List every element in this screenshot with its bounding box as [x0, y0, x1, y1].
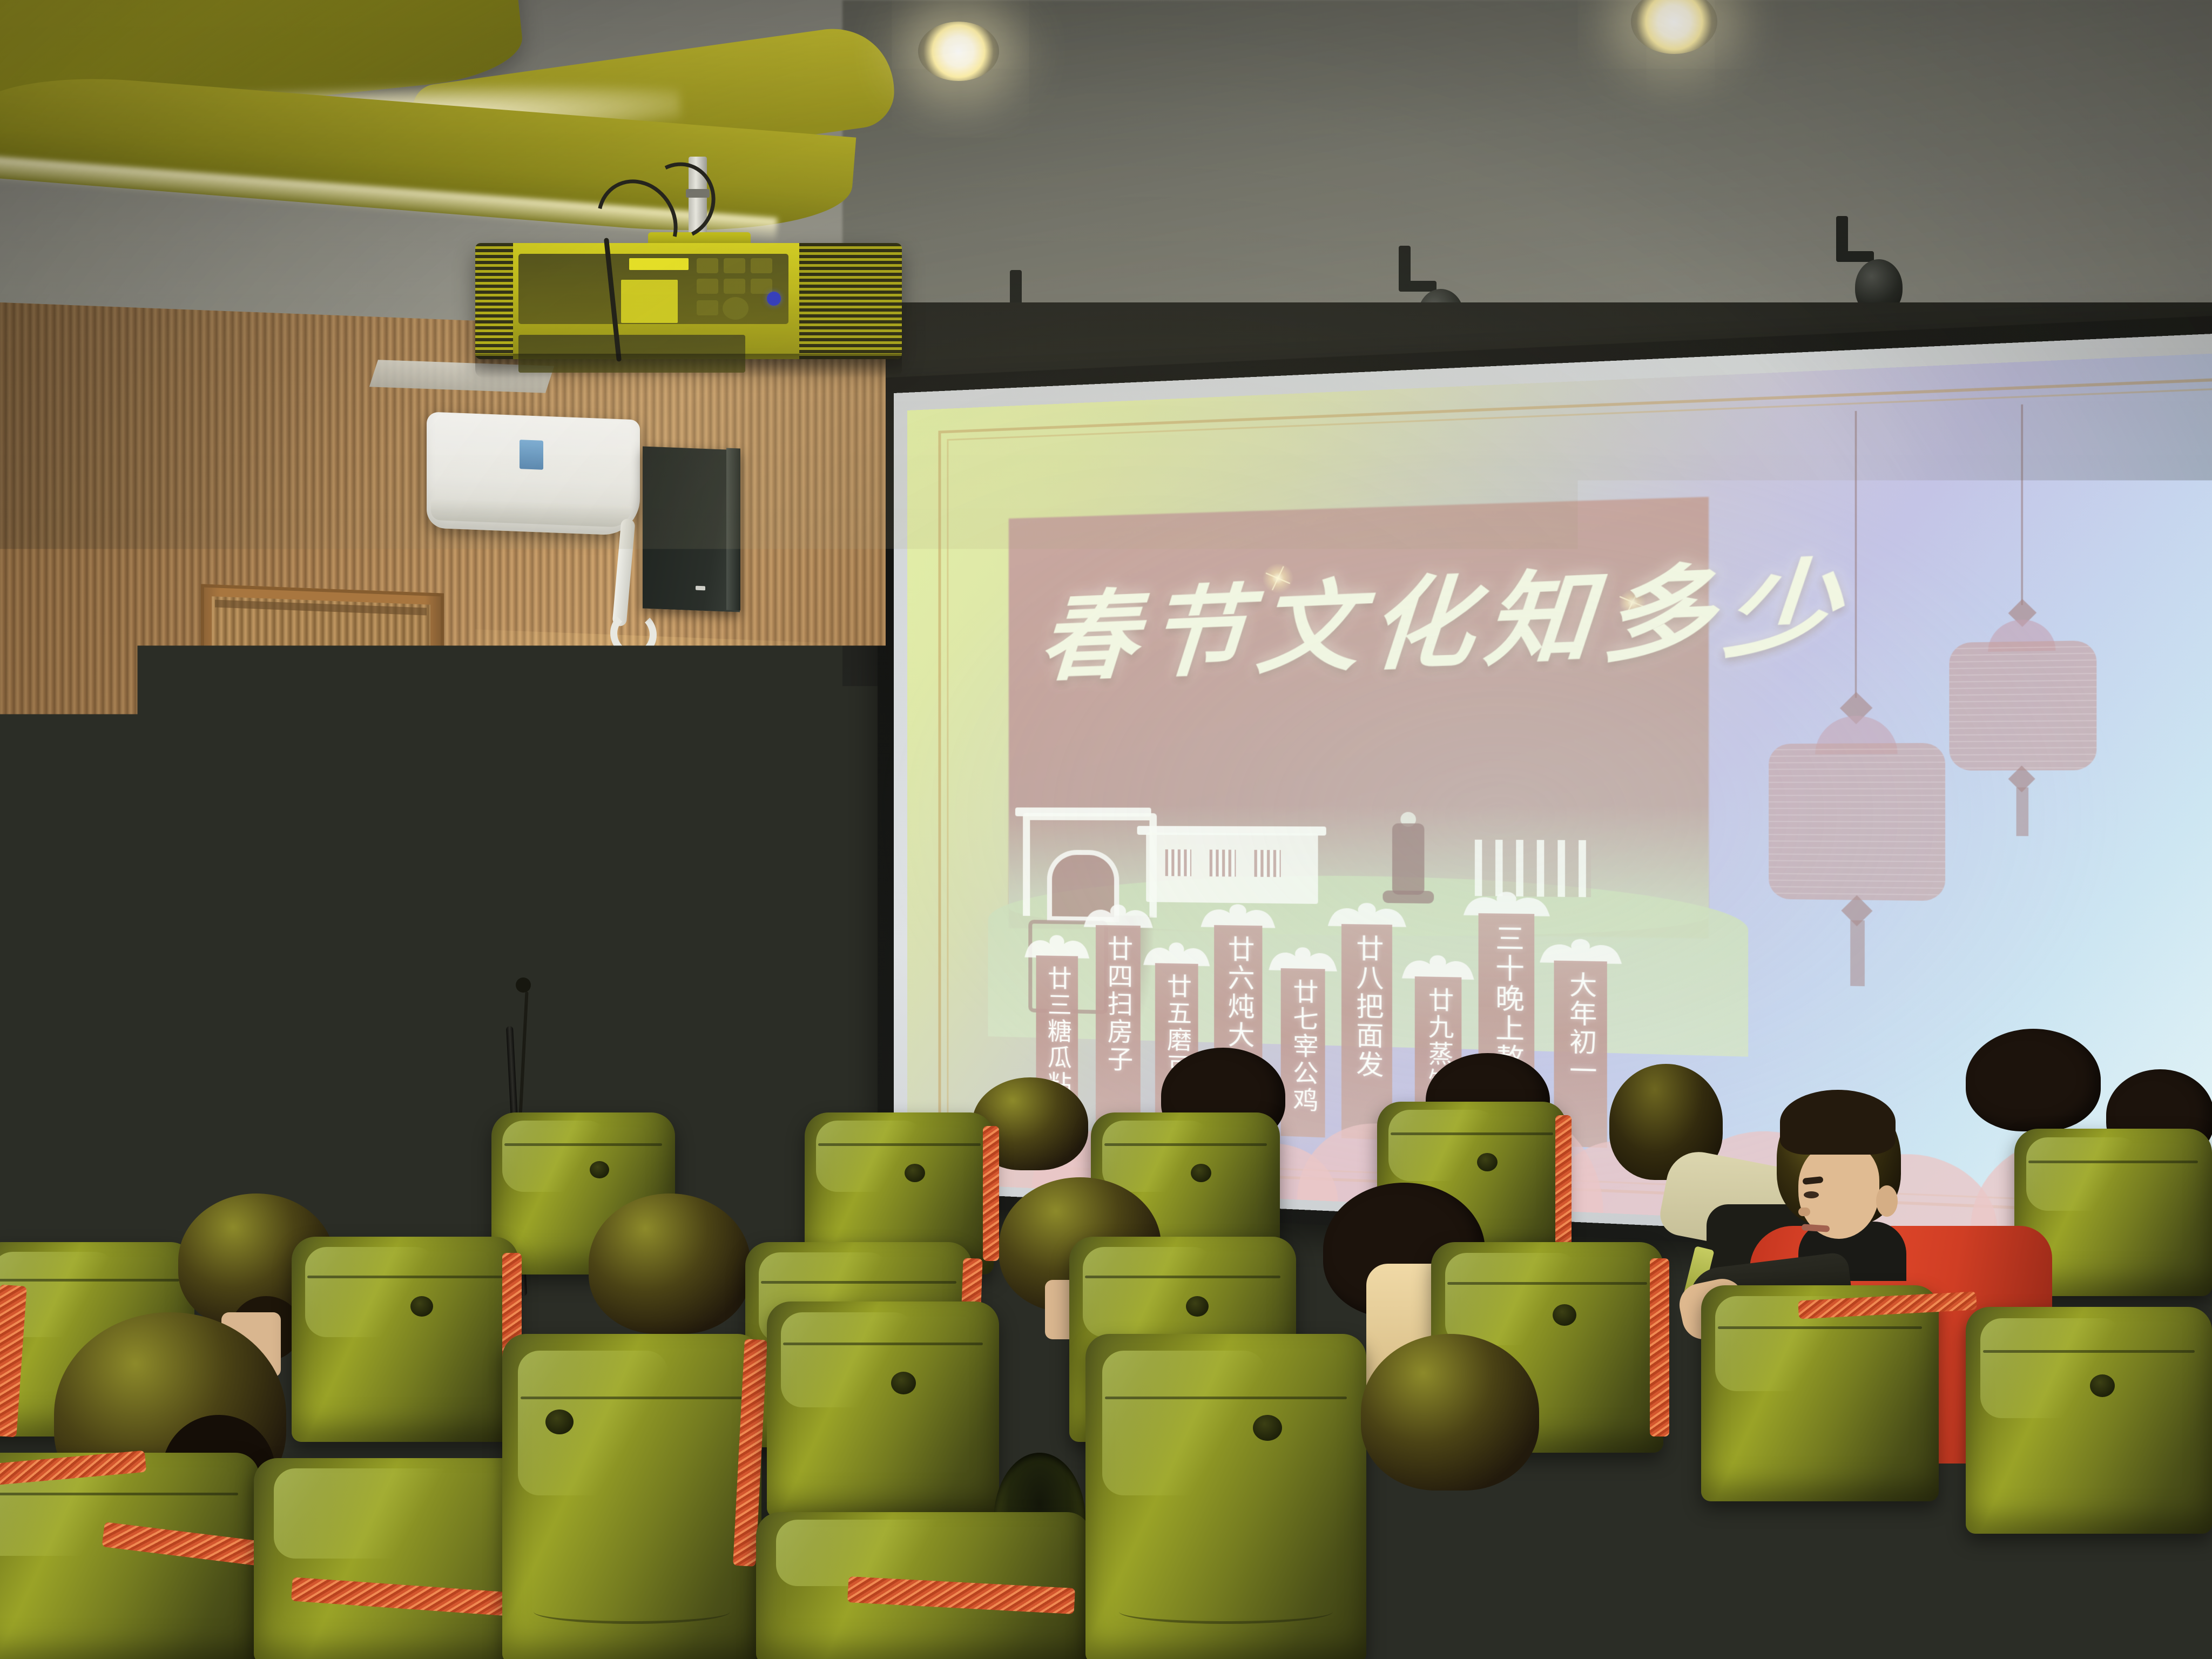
student-eye — [1804, 1191, 1819, 1198]
spotlight-arm — [1399, 281, 1437, 292]
seat-button — [410, 1296, 433, 1317]
projector-spec-sticker — [621, 280, 678, 323]
window-icon — [1254, 850, 1280, 877]
seat-trim — [1555, 1115, 1572, 1250]
seat-button — [308, 1142, 327, 1159]
student-hair — [1780, 1090, 1896, 1155]
audience-head — [682, 1091, 790, 1180]
student-hand — [581, 1002, 623, 1040]
seat-trim — [983, 1126, 999, 1261]
seat-button — [590, 1161, 609, 1178]
door-hinge — [208, 691, 217, 710]
eyeglasses-lens-icon — [807, 856, 842, 881]
student-mouth — [511, 881, 537, 886]
seat-button — [36, 1129, 54, 1145]
fence-icon — [1475, 840, 1591, 898]
teacher-nose — [798, 876, 809, 884]
door-hinge — [208, 913, 217, 932]
student-nose — [517, 868, 528, 876]
student-ear — [1876, 1185, 1898, 1217]
seat-button — [545, 1410, 574, 1434]
projector-vent — [799, 243, 902, 359]
lapel-microphone-icon — [516, 977, 531, 993]
seat-button — [1555, 1539, 1584, 1565]
lecture-hall-photo: 春节文化知多少 廿三糖瓜粘廿四扫房子廿五磨豆腐廿六炖大肉廿七宰公鸡廿八把面发廿九… — [0, 0, 2212, 1659]
theater-seat[interactable] — [292, 1237, 518, 1442]
audience-head — [1966, 1029, 2101, 1131]
lantern-string — [2021, 404, 2023, 605]
banner-label: 廿四扫房子 — [1096, 935, 1141, 1123]
spotlight-arm — [1836, 251, 1874, 262]
lantern-icon — [1769, 743, 1945, 901]
projector-button[interactable] — [697, 300, 718, 315]
teacher-mouth — [790, 889, 819, 894]
student-eye — [498, 854, 515, 861]
lantern-string — [1855, 411, 1857, 698]
projector-button[interactable] — [724, 279, 745, 294]
eyeglasses-bridge-icon — [800, 864, 808, 866]
theater-seat[interactable] — [767, 1301, 999, 1518]
student-nose — [1798, 1208, 1810, 1216]
student-hair — [475, 786, 571, 857]
banner-label: 廿七宰公鸡 — [1281, 979, 1325, 1136]
projector-ok-button[interactable] — [723, 297, 748, 320]
stone-lantern-icon — [1392, 824, 1425, 895]
lantern-ribs — [1769, 743, 1945, 901]
projector-power-led — [767, 292, 781, 306]
lantern-tassel-icon — [2017, 787, 2029, 836]
audience-head — [589, 1193, 751, 1334]
slide-title: 春节文化知多少 — [1037, 564, 1679, 688]
lantern-ribs — [1949, 640, 2096, 771]
projector-button[interactable] — [751, 279, 772, 294]
downlight-icon — [918, 22, 999, 81]
projector-button[interactable] — [751, 258, 772, 273]
window-icon — [1210, 849, 1236, 876]
seat-button — [891, 1372, 916, 1394]
seat-button — [2090, 1374, 2115, 1397]
wall-speaker-edge — [726, 448, 740, 611]
seat-button — [1477, 1153, 1498, 1171]
theater-seat[interactable] — [1085, 1334, 1366, 1659]
projector-button[interactable] — [697, 258, 718, 273]
student-eye — [535, 854, 552, 861]
projector-button[interactable] — [724, 258, 745, 273]
lantern-tassel-icon — [1850, 920, 1865, 986]
audience-head — [1782, 1555, 1960, 1659]
projector-shadow — [475, 354, 902, 378]
seat-button — [1253, 1415, 1282, 1441]
window-icon — [1165, 849, 1191, 876]
theater-seat[interactable] — [0, 1077, 178, 1234]
projector-vent — [475, 243, 513, 359]
projector-button[interactable] — [697, 279, 718, 294]
air-conditioner-label — [520, 440, 543, 470]
wall-speaker — [643, 447, 740, 612]
seat-button — [1553, 1304, 1576, 1326]
seat-trim — [1650, 1258, 1669, 1437]
seat-button — [905, 1164, 925, 1182]
wall-speaker-badge — [696, 586, 705, 591]
door-handle[interactable] — [218, 950, 226, 994]
seat-trim — [446, 1106, 462, 1241]
seat-trim — [2009, 1496, 2031, 1659]
theater-seat[interactable] — [502, 1334, 761, 1659]
seat-button — [1191, 1164, 1211, 1182]
water-bottle[interactable] — [756, 997, 792, 1095]
seat-button — [1186, 1296, 1209, 1317]
lantern-icon — [1949, 640, 2096, 771]
